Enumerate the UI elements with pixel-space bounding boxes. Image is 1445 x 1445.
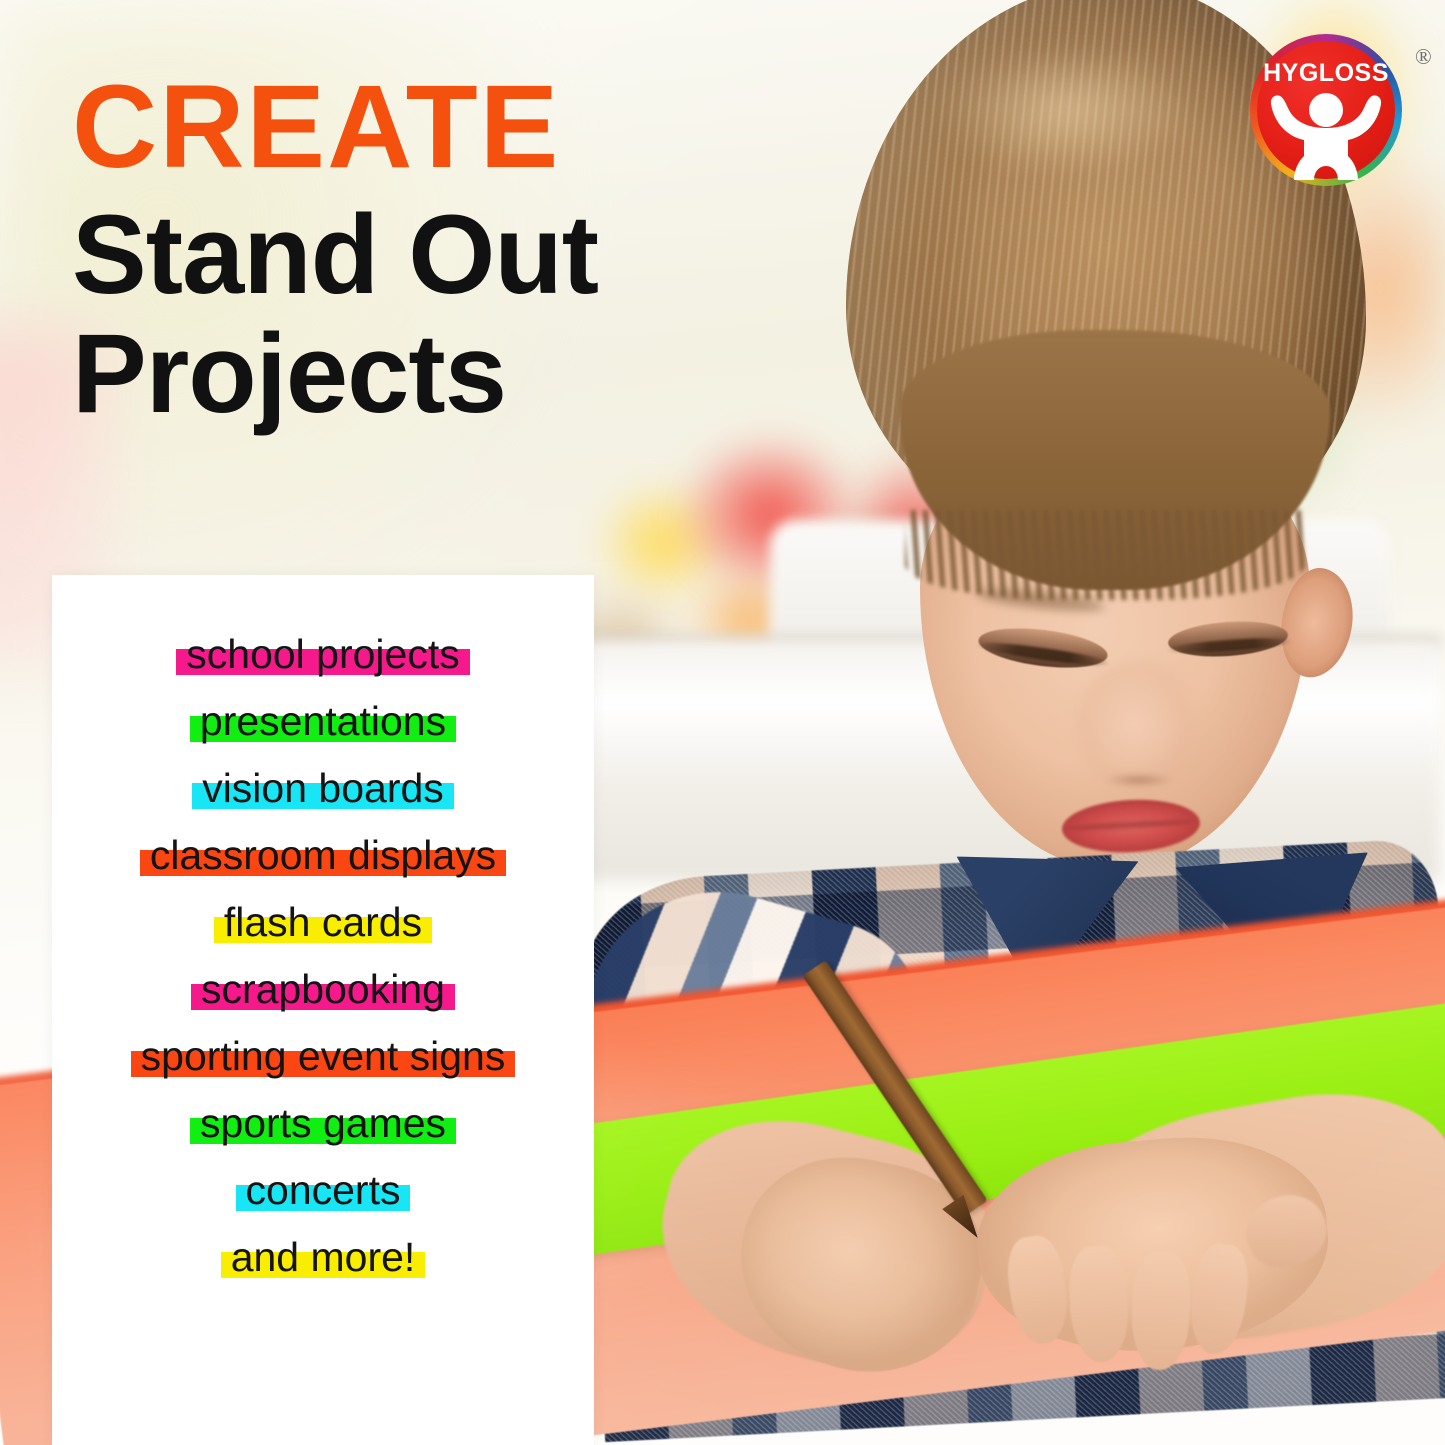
list-item-label: presentations (200, 698, 446, 744)
list-item-label: scrapbooking (201, 966, 445, 1012)
list-item-label: school projects (186, 631, 459, 677)
child-bangs-tips (905, 510, 1305, 600)
brand-logo: HYGLOSS (1250, 34, 1402, 186)
list-item: presentations (190, 692, 456, 751)
list-item: classroom displays (140, 826, 506, 885)
list-item-label: and more! (231, 1234, 416, 1280)
child-hair-highlight (900, 20, 1230, 200)
list-item: and more! (221, 1228, 426, 1287)
list-item-label: flash cards (224, 899, 422, 945)
headline-block: CREATE Stand Out Projects (64, 68, 904, 433)
headline-create: CREATE (72, 68, 904, 186)
uses-list: school projects presentations vision boa… (52, 625, 594, 1287)
list-item-label: concerts (246, 1167, 401, 1213)
list-item: school projects (176, 625, 469, 684)
logo-wordmark: HYGLOSS (1250, 59, 1402, 88)
list-item: sporting event signs (131, 1027, 516, 1086)
headline-line-two: Stand Out (72, 196, 904, 315)
list-item-label: sporting event signs (141, 1033, 506, 1079)
child-nostrils (1096, 772, 1182, 788)
list-item-label: classroom displays (150, 832, 496, 878)
poster-canvas: Art! my favor CREATE Stand Out Projects … (0, 0, 1445, 1445)
list-item: flash cards (214, 893, 432, 952)
uses-list-panel: school projects presentations vision boa… (52, 575, 594, 1445)
list-item: sports games (190, 1094, 456, 1153)
logo-person-icon (1250, 90, 1402, 180)
list-item-label: sports games (200, 1100, 446, 1146)
registered-trademark-icon: ® (1415, 44, 1432, 70)
list-item: concerts (236, 1161, 411, 1220)
list-item-label: vision boards (202, 765, 444, 811)
list-item: vision boards (192, 759, 454, 818)
list-item: scrapbooking (191, 960, 455, 1019)
headline-line-three: Projects (72, 315, 904, 434)
